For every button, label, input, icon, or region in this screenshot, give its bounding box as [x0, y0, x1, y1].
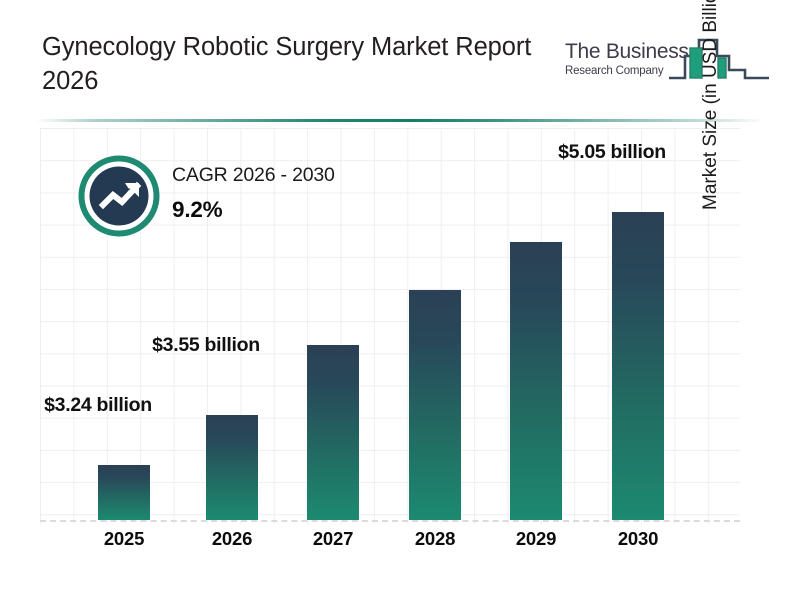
bar-2025[interactable] — [98, 465, 150, 520]
cagr-value: 9.2% — [172, 197, 335, 223]
bar-slot-2026 — [206, 415, 258, 520]
trending-up-icon — [78, 155, 160, 237]
bar-2029[interactable] — [510, 242, 562, 520]
page-header: Gynecology Robotic Surgery Market Report… — [0, 0, 800, 118]
cagr-badge: CAGR 2026 - 2030 9.2% — [78, 155, 398, 241]
chart-page: Gynecology Robotic Surgery Market Report… — [0, 0, 800, 600]
value-label-2030: $5.05 billion — [557, 140, 667, 165]
bar-2026[interactable] — [206, 415, 258, 520]
x-tick-2029: 2029 — [481, 528, 591, 550]
x-tick-2025: 2025 — [69, 528, 179, 550]
bar-2028[interactable] — [409, 290, 461, 520]
y-axis-title: Market Size (in USD Billion) — [700, 0, 722, 210]
bar-2027[interactable] — [307, 345, 359, 520]
header-divider — [35, 119, 765, 122]
page-title: Gynecology Robotic Surgery Market Report… — [42, 30, 542, 98]
value-label-2026: $3.55 billion — [151, 333, 261, 358]
x-tick-2026: 2026 — [177, 528, 287, 550]
x-tick-2027: 2027 — [278, 528, 388, 550]
x-tick-2028: 2028 — [380, 528, 490, 550]
bar-slot-2028 — [409, 290, 461, 520]
value-label-2025: $3.24 billion — [43, 393, 153, 418]
bar-slot-2029 — [510, 242, 562, 520]
bar-slot-2030 — [612, 212, 664, 520]
bar-2030[interactable] — [612, 212, 664, 520]
x-tick-2030: 2030 — [583, 528, 693, 550]
bar-slot-2027 — [307, 345, 359, 520]
company-logo: The Business Research Company — [565, 26, 770, 104]
cagr-text-block: CAGR 2026 - 2030 9.2% — [172, 164, 335, 223]
x-axis: 2025 2026 2027 2028 2029 2030 — [40, 528, 740, 562]
cagr-period-label: CAGR 2026 - 2030 — [172, 164, 335, 187]
bar-slot-2025 — [98, 465, 150, 520]
